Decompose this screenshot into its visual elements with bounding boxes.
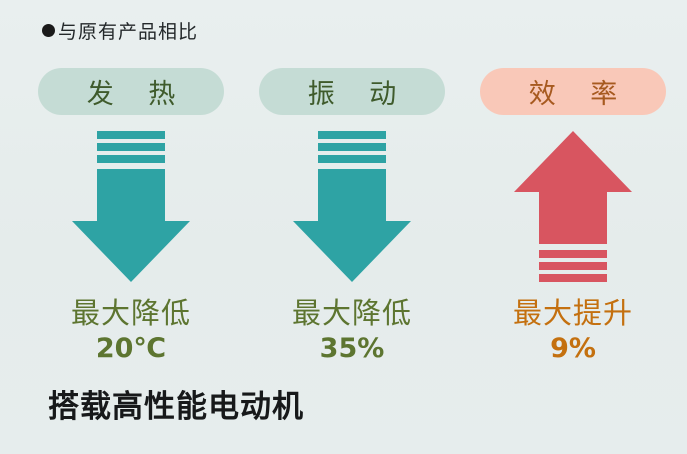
pill-vibration: 振 动	[259, 68, 445, 115]
footer-headline: 搭载高性能电动机	[48, 381, 304, 426]
header-title: 与原有产品相比	[58, 17, 198, 44]
arrow-down-vibration	[287, 129, 417, 287]
column-efficiency: 效 率 最大提升 9%	[478, 68, 668, 388]
filled-circle-bullet-icon	[42, 24, 55, 37]
pill-efficiency: 效 率	[480, 68, 666, 115]
header: 与原有产品相比	[42, 17, 198, 44]
arrow-up-efficiency	[508, 129, 638, 287]
caption-efficiency-value: 9%	[513, 333, 633, 364]
caption-vibration: 最大降低 35%	[292, 297, 412, 364]
comparison-columns: 发 热 最大降低 20℃ 振 动	[36, 68, 668, 388]
arrow-down-heat	[66, 129, 196, 287]
pill-efficiency-label: 效 率	[516, 72, 631, 111]
caption-efficiency-main: 最大提升	[513, 297, 633, 330]
column-vibration: 振 动 最大降低 35%	[257, 68, 447, 388]
caption-efficiency: 最大提升 9%	[513, 297, 633, 364]
pill-heat-label: 发 热	[74, 72, 189, 111]
pill-heat: 发 热	[38, 68, 224, 115]
caption-heat-main: 最大降低	[71, 297, 191, 330]
caption-heat: 最大降低 20℃	[71, 297, 191, 364]
column-heat: 发 热 最大降低 20℃	[36, 68, 226, 388]
caption-vibration-value: 35%	[292, 333, 412, 364]
arrow-down-icon	[288, 129, 416, 287]
pill-vibration-label: 振 动	[295, 72, 410, 111]
caption-vibration-main: 最大降低	[292, 297, 412, 330]
arrow-down-icon	[67, 129, 195, 287]
infographic-canvas: 与原有产品相比 发 热 最大降低 20℃	[0, 0, 687, 454]
caption-heat-value: 20℃	[71, 333, 191, 364]
arrow-up-icon	[509, 129, 637, 287]
